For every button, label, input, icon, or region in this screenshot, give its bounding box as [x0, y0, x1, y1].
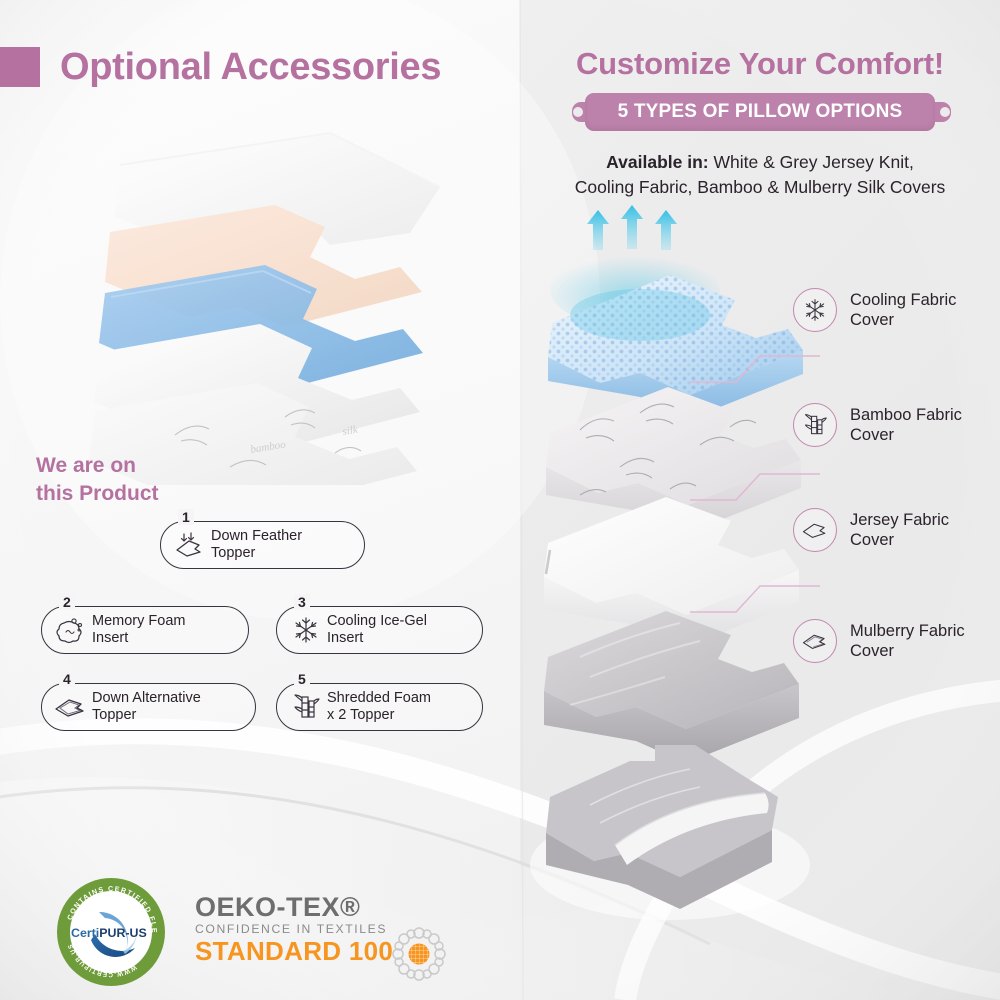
down-feather-topper-icon: [169, 532, 211, 558]
accessory-number-4: 4: [59, 671, 75, 687]
bamboo-icon: [285, 692, 327, 722]
certipur-brand-part-2: PUR-US: [99, 926, 147, 940]
infographic-canvas: Optional Accessories: [0, 0, 1000, 1000]
cover-label-text: Jersey Fabric Cover: [850, 510, 949, 550]
cover-label-text: Cooling Fabric Cover: [850, 290, 956, 330]
snowflake-icon: [793, 288, 837, 332]
cover-label-text: Bamboo Fabric Cover: [850, 405, 962, 445]
accessory-number-2: 2: [59, 594, 75, 610]
svg-text:silk: silk: [342, 424, 360, 438]
certipur-brand-part-1: Certi: [71, 926, 99, 940]
cooling-arrows: [587, 205, 677, 250]
available-in-line-1: White & Grey Jersey Knit,: [709, 152, 914, 172]
available-in-line-2: Cooling Fabric, Bamboo & Mulberry Silk C…: [575, 177, 946, 197]
accessory-pill-shredded-foam-topper[interactable]: 5 Shredded Foam x 2 Topper: [276, 683, 483, 731]
snowflake-icon: [285, 615, 327, 645]
callout-line-1: We are on: [36, 452, 159, 480]
pillow-icon: [793, 619, 837, 663]
memory-foam-icon: [50, 615, 92, 645]
accessory-label-4: Down Alternative Topper: [92, 690, 201, 724]
cover-label-cooling-fabric[interactable]: Cooling Fabric Cover: [793, 288, 956, 332]
bamboo-icon: [793, 403, 837, 447]
accessory-label-2: Memory Foam Insert: [92, 613, 185, 647]
down-alternative-topper-icon: [50, 695, 92, 719]
exploded-pillow-layers-illustration: bamboo silk: [55, 125, 485, 485]
accessory-label-1: Down Feather Topper: [211, 528, 302, 562]
mulberry-fabric-pillow: [544, 611, 799, 763]
assembled-pillow-product-shot: [530, 745, 810, 920]
accent-square-decoration: [0, 47, 40, 87]
we-are-on-this-product-callout: We are on this Product: [36, 452, 159, 508]
accessory-number-1: 1: [178, 509, 194, 525]
pillow-options-badge: 5 TYPES OF PILLOW OPTIONS: [520, 93, 1000, 133]
accessory-pill-cooling-ice-gel-insert[interactable]: 3 Cooling Ice-Gel Insert: [276, 606, 483, 654]
oeko-tex-flower-emblem: [391, 926, 447, 982]
cover-label-text: Mulberry Fabric Cover: [850, 621, 965, 661]
pillow-icon: [793, 508, 837, 552]
accessory-label-5: Shredded Foam x 2 Topper: [327, 690, 431, 724]
accessory-pill-memory-foam-insert[interactable]: 2 Memory Foam Insert: [41, 606, 249, 654]
oeko-tex-standard-100-logo: OEKO-TEX® CONFIDENCE IN TEXTILES STANDAR…: [195, 893, 455, 965]
page-title-customize-your-comfort: Customize Your Comfort!: [520, 46, 1000, 82]
badge-label: 5 TYPES OF PILLOW OPTIONS: [585, 93, 935, 131]
certipur-us-seal: CONTAINS CERTIFIED FLEXIBLE POLYURETHANE…: [55, 876, 167, 988]
available-in-text: Available in: White & Grey Jersey Knit, …: [520, 150, 1000, 200]
oeko-tex-wordmark: OEKO-TEX®: [195, 893, 455, 921]
accessory-pill-down-feather-topper[interactable]: 1 Down Feather Topper: [160, 521, 365, 569]
pillow-cover-stack-illustration: [520, 205, 820, 925]
accessory-pill-down-alternative-topper[interactable]: 4 Down Alternative Topper: [41, 683, 256, 731]
cover-label-jersey-fabric[interactable]: Jersey Fabric Cover: [793, 508, 949, 552]
callout-line-2: this Product: [36, 480, 159, 508]
cover-label-mulberry-fabric[interactable]: Mulberry Fabric Cover: [793, 619, 965, 663]
available-in-label: Available in:: [606, 152, 708, 172]
ribbon-notch-left: [573, 107, 583, 117]
accessory-label-3: Cooling Ice-Gel Insert: [327, 613, 427, 647]
page-title-optional-accessories: Optional Accessories: [60, 46, 441, 89]
ribbon-notch-right: [940, 107, 950, 117]
cover-label-bamboo-fabric[interactable]: Bamboo Fabric Cover: [793, 403, 962, 447]
accessory-number-3: 3: [294, 594, 310, 610]
svg-text:CertiPUR-US: CertiPUR-US: [71, 926, 147, 940]
accessory-number-5: 5: [294, 671, 310, 687]
